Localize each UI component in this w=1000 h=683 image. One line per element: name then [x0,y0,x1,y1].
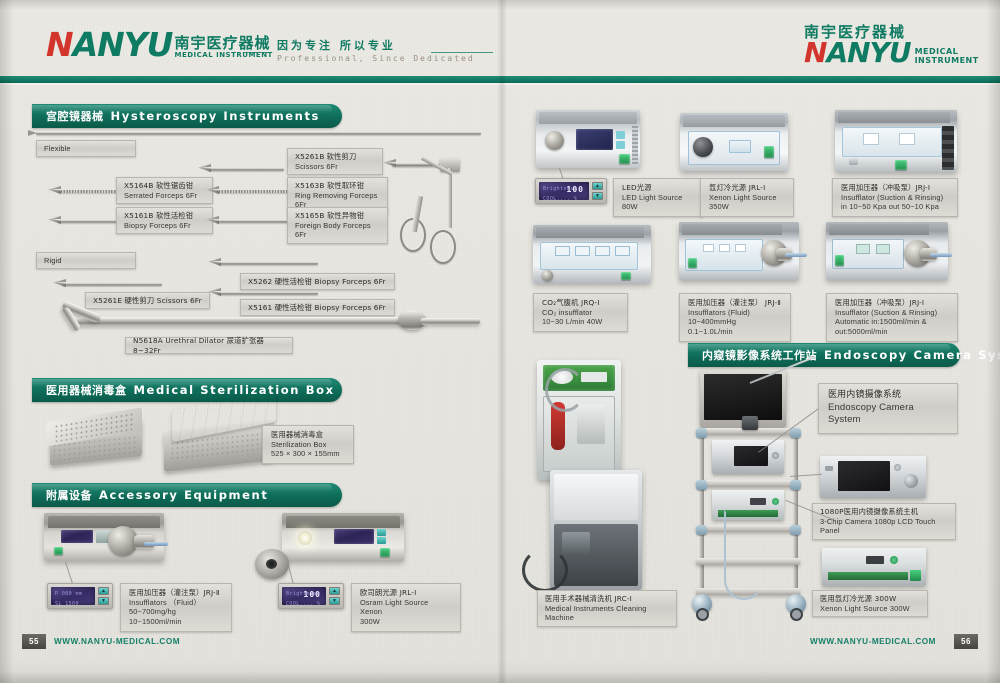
panel-key-osram-up[interactable]: ▲ [329,587,340,595]
catalog-page-spread: NANYU 南宇医疗器械 MEDICAL INSTRUMENT 因为专注 所以专… [0,0,1000,683]
label-insufflator-fluid-spec: 50~700mg/hg 10~1500ml/min [129,607,223,627]
label-xenon-300w: 医用氙灯冷光源 300W Xenon Light Source 300W [812,590,928,617]
label-led-spec: 80W [622,202,694,212]
brand-en-name-right-1: MEDICAL [915,47,979,56]
tower-joint-ml [696,480,707,490]
slogan-en: Professional, Since Dedicated [277,53,475,64]
label-co2-en: CO₂ insufflator [542,308,619,318]
page-edge-left [0,0,14,683]
group-tag-rigid-label: Rigid [44,256,62,266]
label-osram-light: 欧司朗光源 JRL-Ⅰ Osram Light Source Xenon 300… [351,583,461,632]
label-x5261e-text: X5261E 硬性剪刀 Scissors 6Fr [93,296,202,306]
instrument-shaft-top [36,132,481,135]
panel-screen-insufflator: P 000 mm SL 1500 ml/min [51,587,95,605]
panel-key-down[interactable]: ▼ [98,597,109,605]
tower-light-cable [724,510,764,600]
wordmark-letters-anyu: ANYU [73,25,173,64]
group-tag-rigid: Rigid [36,252,136,269]
label-x5262-text: X5262 硬性活检钳 Biopsy Forceps 6Fr [248,277,386,287]
panel-insufflator-line1: P 000 mm [55,591,82,597]
label-x5161-text: X5161 硬性活检钳 Biopsy Forceps 6Fr [248,303,386,313]
label-x5261e: X5261E 硬性剪刀 Scissors 6Fr [85,292,210,309]
tower-joint-mr [790,480,801,490]
label-suctionauto-spec: Automatic in:1500ml/min & out:5000ml/min [835,317,949,337]
wordmark-letter-n-right: N [804,36,826,69]
label-xenon300-en: Xenon Light Source 300W [820,604,920,614]
label-insufflator-fluid-jrj2: 医用加压器（灌注泵） JRJ-Ⅱ Insufflators (Fluid) 10… [679,293,791,342]
panel-key-led-up[interactable]: ▲ [592,182,603,190]
panel-key-osram-down[interactable]: ▼ [329,597,340,605]
label-suction-en: Insufflator (Suction & Rinsing) [841,193,949,203]
header-teal-bar [0,76,1000,83]
banner-shine-accessory [32,484,332,492]
panel-led-light: Brightness COOL.... % 100 ▲ ▼ [535,178,607,204]
label-x5261b-en: Scissors 6Fr [295,162,375,172]
tower-post-right [793,428,798,596]
label-insufflator-fluid: 医用加压器（灌注泵）JRJ-Ⅱ Insufflators （Fluid） 50~… [120,583,232,632]
device-insufflator-suction-auto [826,222,948,280]
panel-keys-osram[interactable]: ▲ ▼ [329,587,340,605]
label-osram-cn: 欧司朗光源 JRL-Ⅰ [360,588,452,598]
page-edge-top [0,0,1000,10]
device-insufflator-fluid [44,513,164,561]
banner-camera-system: 内窥镜影像系统工作站 Endoscopy Camera System [688,343,960,367]
banner-shine-sterilization [32,379,332,387]
label-suction-spec: in 10~50 Kpa out 50~10 Kpa [841,202,949,212]
slogan-cn: 因为专注 所以专业 [277,39,475,53]
instrument-tip-top [28,130,37,136]
label-insufflator-suction: 医用加压器（冲吸泵）JRJ-Ⅰ Insufflator (Suction & R… [832,178,958,217]
label-cleaning-machine: 医用手术器械清洗机 JRC-Ⅰ Medical Instruments Clea… [537,590,677,627]
label-cleaning-en: Medical Instruments Cleaning Machine [545,604,669,624]
device-insufflator-suction-rinsing [835,110,957,172]
tower-camera-unit [712,440,784,474]
panel-osram-line2: COOL.... % [286,601,320,605]
label-x5261b-cn: X5261B [295,152,324,161]
panel-led-line2: COOL.... % [543,196,577,200]
label-x5165b-code: X5165B [295,211,324,220]
label-x5163b-cn: X5163B 软性取环钳 [295,181,380,191]
page-edge-right [986,0,1000,683]
label-x5164b-cnname: 软性锯齿钳 [156,181,193,190]
banner-shine-camera [688,344,950,352]
panel-screen-led: Brightness COOL.... % 100 [539,182,589,200]
panel-led-value: 100 [567,185,584,194]
group-tag-flexible-label: Flexible [44,144,71,154]
brand-logo-right: 南宇医疗器械 NANYU MEDICAL INSTRUMENT [804,24,979,67]
label-suction-cn: 医用加压器（冲吸泵）JRJ-Ⅰ [841,183,949,193]
panel-keys-led[interactable]: ▲ ▼ [592,182,603,200]
device-1080p-camera [820,456,926,498]
tower-joint-tr [790,428,801,438]
suction-unit-hose [522,548,568,592]
page-number-left: 55 [22,634,46,649]
wordmark-right: NANYU [804,39,911,67]
banner-shine [32,105,332,113]
group-tag-flexible: Flexible [36,140,136,157]
panel-screen-osram: Brightness COOL.... % 100 [282,587,326,605]
label-x5161: X5161 硬性活检钳 Biopsy Forceps 6Fr [240,299,395,316]
label-1080p-camera: 1080P医用内镜摄像系统主机 3-Chip Camera 1080p LCD … [812,503,956,540]
label-camera-main-en: Endoscopy Camera System [828,402,948,427]
device-led-light-source [536,110,640,168]
banner-hysteroscopy: 宫腔镜器械 Hysteroscopy Instruments [32,104,342,128]
label-fluid2-spec: 10~400mmHg 0.1~1.0L/min [688,317,782,337]
label-x5161b-cnname: 软性活检钳 [156,211,193,220]
label-xenon-light-source: 氙灯冷光源 JRL-Ⅰ Xenon Light Source 350W [700,178,794,217]
label-x5164b-cn: X5164B 软性锯齿钳 [124,181,205,191]
wordmark-letter-n: N [46,25,73,64]
label-x5262: X5262 硬性活检钳 Biopsy Forceps 6Fr [240,273,395,290]
label-x5161b-en: Biopsy Forceps 6Fr [124,221,205,231]
footer-url-left[interactable]: WWW.NANYU-MEDICAL.COM [54,634,180,649]
label-x5165b-cn: X5165B 软性异物钳 [295,211,380,221]
label-led-en: LED Light Source [622,193,694,203]
label-co2-spec: 10~30 L/min 40W [542,317,619,327]
tower-joint-br [790,525,801,535]
page-header: NANYU 南宇医疗器械 MEDICAL INSTRUMENT 因为专注 所以专… [0,22,1000,74]
header-rule-left [243,52,269,53]
label-x5164b-en: Serrated Forceps 6Fr [124,191,205,201]
device-co2-insufflator [533,225,651,283]
panel-insufflator-fluid: P 000 mm SL 1500 ml/min ▲ ▼ [47,583,113,609]
label-camera-en: 3-Chip Camera 1080p LCD Touch Panel [820,517,948,537]
tower-post-left [699,428,704,596]
sterilization-box-closed [44,413,144,468]
label-x5163b-cnname: 软性取环钳 [327,181,364,190]
footer-strip [0,661,1000,683]
label-camera-system-main: 医用内镜摄像系统 Endoscopy Camera System [818,383,958,434]
page-number-right: 56 [954,634,978,649]
label-led-cn: LED光源 [622,183,694,193]
leader-line-accessory-1 [65,562,73,583]
label-camera-cn: 1080P医用内镜摄像系统主机 [820,507,948,517]
brand-logo-left: NANYU 南宇医疗器械 MEDICAL INSTRUMENT [46,28,273,61]
label-x5164b: X5164B 软性锯齿钳 Serrated Forceps 6Fr [116,177,213,204]
label-sterilization-en: Sterilization Box [271,440,345,450]
label-sterilization-box: 医用器械消毒盒 Sterilization Box 525 × 300 × 15… [262,425,354,464]
label-xenon-cn: 氙灯冷光源 JRL-Ⅰ [709,183,785,193]
panel-key-up[interactable]: ▲ [98,587,109,595]
label-fluid2-en: Insufflators (Fluid) [688,308,782,318]
label-x5165b-cnname: 软性异物钳 [327,211,364,220]
label-x5261b-cn2: 软性剪刀 [327,152,357,161]
wordmark-left: NANYU [46,28,172,61]
brand-en-name-right-2: INSTRUMENT [915,56,979,65]
brand-cn-name-left: 南宇医疗器械 [174,36,272,51]
label-insufflator-suction-auto: 医用加压器（冲吸泵）JRJ-Ⅰ Insufflator (Suction & R… [826,293,958,342]
tower-scope-camera-head [742,416,758,430]
label-n5618a: N5618A Urethral Dilator 尿道扩张器 8~32Fr [125,337,293,354]
device-insufflator-fluid-jrj2 [679,222,799,280]
tower-shelf-2 [696,480,800,487]
label-suctionauto-cn: 医用加压器（冲吸泵）JRJ-Ⅰ [835,298,949,308]
label-insufflator-fluid-en: Insufflators （Fluid） [129,598,223,608]
footer-url-right[interactable]: WWW.NANYU-MEDICAL.COM [810,634,936,649]
label-xenon-spec: 350W [709,202,785,212]
page-gutter [497,0,507,683]
label-x5261b: X5261B 软性剪刀 Scissors 6Fr [287,148,383,175]
label-x5164b-code: X5164B [124,181,153,190]
header-teal-bar-highlight [0,83,1000,85]
label-co2-cn: CO₂气腹机 JRQ-Ⅰ [542,298,619,308]
tower-joint-tl [696,428,707,438]
light-guide-connector [255,549,289,579]
label-sterilization-size: 525 × 300 × 155mm [271,449,345,459]
label-x5161b-code: X5161B [124,211,153,220]
label-co2-insufflator: CO₂气腹机 JRQ-Ⅰ CO₂ insufflator 10~30 L/min… [533,293,628,332]
tower-monitor-screen [704,374,782,420]
label-x5161b-cn: X5161B 软性活检钳 [124,211,205,221]
endoscopy-tower [690,370,830,620]
panel-keys-insufflator[interactable]: ▲ ▼ [98,587,109,605]
label-x5163b-code: X5163B [295,181,324,190]
device-xenon-light-source [680,113,788,171]
panel-key-led-down[interactable]: ▼ [592,192,603,200]
label-insufflator-fluid-cn: 医用加压器（灌注泵）JRJ-Ⅱ [129,588,223,598]
panel-insufflator-line2: SL 1500 ml/min [55,601,95,605]
label-osram-en: Osram Light Source Xenon [360,598,452,618]
sterilization-box-open [158,398,278,470]
panel-osram-value: 100 [304,590,321,599]
cleaning-machine-hose [545,368,585,412]
label-n5618a-text: N5618A Urethral Dilator 尿道扩张器 8~32Fr [133,336,285,355]
label-fluid2-cn: 医用加压器（灌注泵） JRJ-Ⅱ [688,298,782,308]
device-osram-light-source [282,513,404,561]
label-cleaning-cn: 医用手术器械清洗机 JRC-Ⅰ [545,594,669,604]
label-x5161b: X5161B 软性活检钳 Biopsy Forceps 6Fr [116,207,213,234]
label-xenon-en: Xenon Light Source [709,193,785,203]
label-osram-spec: 300W [360,617,452,627]
device-xenon-300w [822,548,926,586]
label-led-light-source: LED光源 LED Light Source 80W [613,178,703,217]
header-rule-right [431,52,493,53]
label-camera-main-cn: 医用内镜摄像系统 [828,390,948,402]
banner-accessory: 附属设备 Accessory Equipment [32,483,342,507]
panel-osram-light: Brightness COOL.... % 100 ▲ ▼ [278,583,344,609]
wordmark-letters-anyu-right: ANYU [826,36,910,69]
label-x5165b: X5165B 软性异物钳 Foreign Body Forceps 6Fr [287,207,388,244]
label-x5165b-en: Foreign Body Forceps 6Fr [295,221,380,241]
tower-joint-bl [696,525,707,535]
label-xenon300-cn: 医用氙灯冷光源 300W [820,594,920,604]
label-suctionauto-en: Insufflator (Suction & Rinsing) [835,308,949,318]
label-sterilization-cn: 医用器械消毒盒 [271,430,345,440]
